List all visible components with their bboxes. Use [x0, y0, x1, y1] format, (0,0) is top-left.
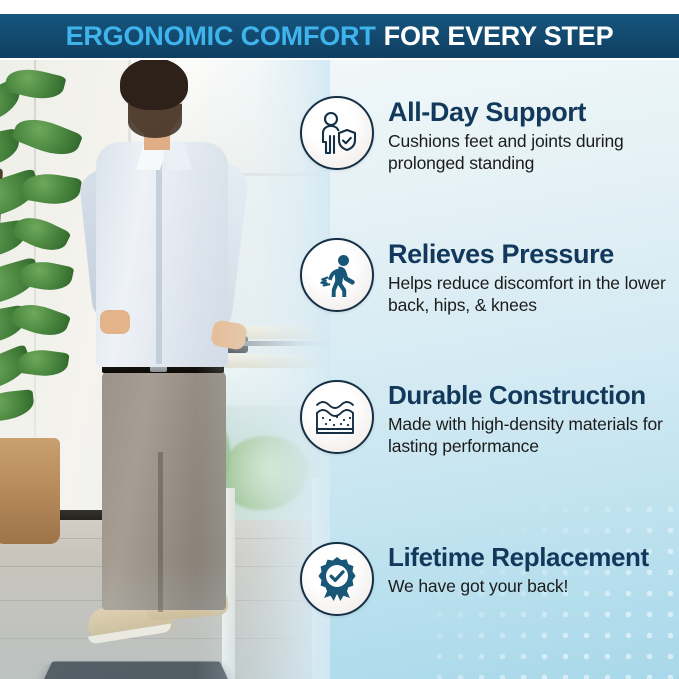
title-accent-text: ERGONOMIC COMFORT	[66, 21, 376, 51]
photo-gradient-blend	[0, 558, 330, 679]
product-lifestyle-photo	[0, 58, 330, 679]
feature-title: All-Day Support	[388, 98, 679, 127]
feature-item-relieves-pressure: Relieves Pressure Helps reduce discomfor…	[300, 238, 679, 317]
award-badge-check-icon	[300, 542, 374, 616]
feature-text: All-Day Support Cushions feet and joints…	[388, 96, 679, 175]
feature-text: Relieves Pressure Helps reduce discomfor…	[388, 238, 679, 317]
feature-text: Durable Construction Made with high-dens…	[388, 380, 679, 458]
feature-text: Lifetime Replacement We have got your ba…	[388, 542, 649, 597]
feature-item-durable-construction: Durable Construction Made with high-dens…	[300, 380, 679, 458]
hair	[120, 58, 188, 110]
title-plain-text: FOR EVERY STEP	[384, 21, 614, 51]
feature-list: All-Day Support Cushions feet and joints…	[300, 62, 679, 679]
plant-pot	[0, 438, 60, 544]
shirt-placket	[156, 164, 162, 364]
header-bar: ERGONOMIC COMFORTFOR EVERY STEP	[0, 14, 679, 58]
feature-description: We have got your back!	[388, 575, 649, 598]
plant-leaf	[9, 297, 71, 342]
feature-description: Made with high-density materials for las…	[388, 413, 679, 459]
photo-scene	[0, 58, 330, 679]
feature-description: Helps reduce discomfort in the lower bac…	[388, 272, 679, 318]
feature-title: Relieves Pressure	[388, 240, 679, 269]
feature-item-lifetime-replacement: Lifetime Replacement We have got your ba…	[300, 542, 679, 616]
plant-leaf	[0, 389, 35, 423]
person-shield-icon	[300, 96, 374, 170]
foam-layers-icon	[300, 380, 374, 454]
feature-item-all-day-support: All-Day Support Cushions feet and joints…	[300, 96, 679, 175]
header: ERGONOMIC COMFORTFOR EVERY STEP	[0, 0, 679, 60]
feature-title: Lifetime Replacement	[388, 544, 649, 572]
page-title: ERGONOMIC COMFORTFOR EVERY STEP	[66, 21, 614, 52]
infographic-canvas: ERGONOMIC COMFORTFOR EVERY STEP All-Day …	[0, 0, 679, 679]
back-pain-person-icon	[300, 238, 374, 312]
plant-leaf	[11, 210, 72, 259]
feature-title: Durable Construction	[388, 382, 679, 410]
hand	[100, 310, 130, 334]
feature-description: Cushions feet and joints during prolonge…	[388, 130, 679, 176]
